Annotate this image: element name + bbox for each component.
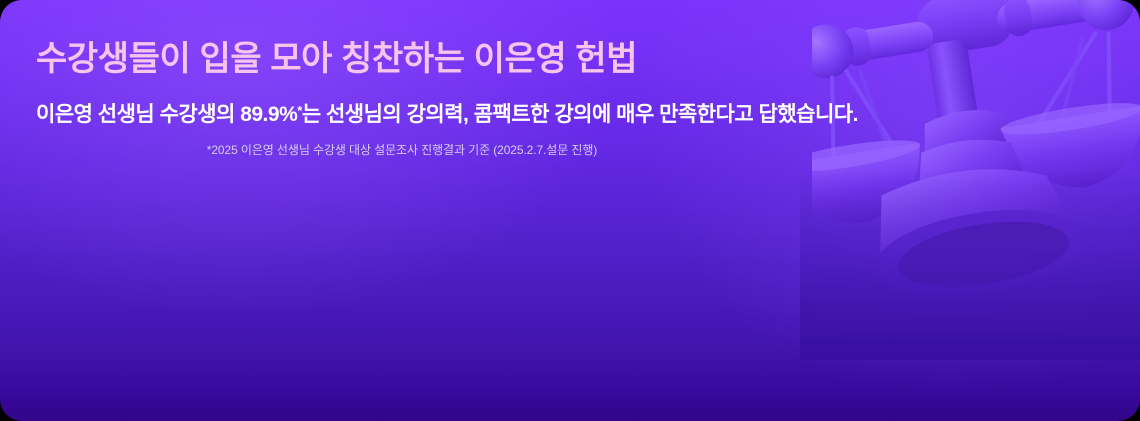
banner-footnote: *2025 이은영 선생님 수강생 대상 설문조사 진행결과 기준 (2025.…	[0, 141, 1140, 159]
banner-headline: 수강생들이 입을 모아 칭찬하는 이은영 헌법	[36, 37, 637, 81]
artwork-fade-overlay	[800, 170, 1140, 360]
banner-subheadline: 이은영 선생님 수강생의 89.9%*는 선생님의 강의력, 콤팩트한 강의에 …	[36, 96, 858, 130]
subheadline-rest-text: 는 선생님의 강의력, 콤팩트한 강의에 매우 만족한다고 답했습니다.	[302, 103, 858, 126]
subheadline-stat-text: 이은영 선생님 수강생의 89.9%	[36, 103, 297, 126]
promo-banner: 수강생들이 입을 모아 칭찬하는 이은영 헌법 이은영 선생님 수강생의 89.…	[0, 0, 1140, 421]
background-glow-right	[640, 0, 1140, 400]
